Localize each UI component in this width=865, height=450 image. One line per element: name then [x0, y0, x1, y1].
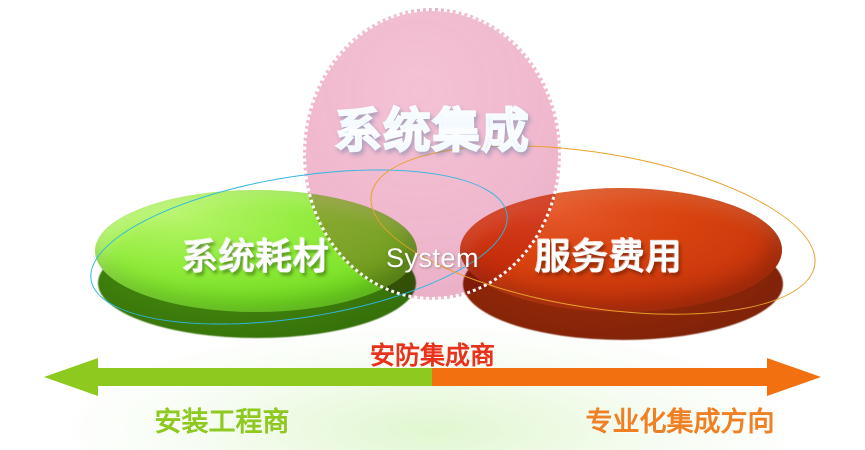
- direction-arrow-bar: 安防集成商 安装工程商 专业化集成方向: [0, 352, 865, 394]
- right-arrow-shape: [432, 358, 821, 396]
- left-arrow-shape: [44, 358, 432, 396]
- double-arrow-graphic: [0, 356, 865, 398]
- center-overlap-label: System: [0, 243, 865, 274]
- venn-diagram-canvas: 系统集成 系统耗材 服务费用 System 安防集成商 安装工程商 专业化集成方…: [0, 0, 865, 450]
- arrow-right-label: 专业化集成方向: [520, 400, 840, 439]
- system-integration-title: 系统集成: [0, 92, 865, 161]
- arrow-left-label: 安装工程商: [72, 400, 372, 439]
